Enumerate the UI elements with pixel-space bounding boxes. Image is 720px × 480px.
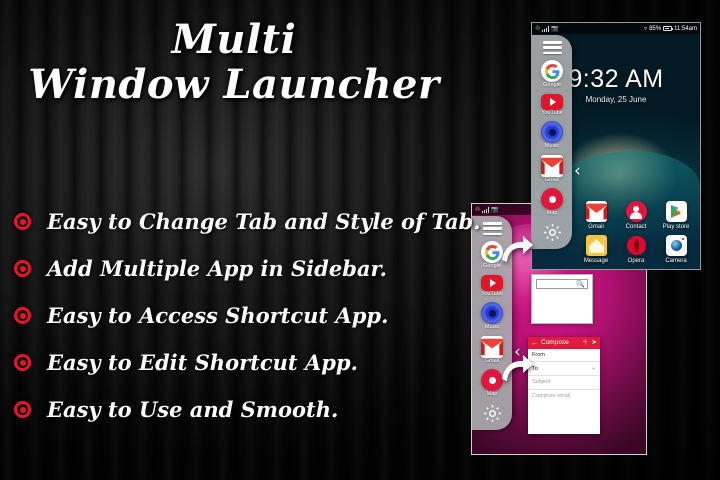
record-bullet-icon: [14, 260, 31, 277]
app-message[interactable]: Message: [576, 235, 616, 264]
youtube-icon: [481, 275, 503, 291]
sidebar-item-label: Map: [547, 211, 558, 217]
list-item: Easy to Edit Shortcut App.: [14, 339, 476, 386]
feature-list: Easy to Change Tab and Style of Tab. Add…: [14, 198, 476, 433]
sidebar-item-label: YouTube: [481, 292, 503, 298]
to-field[interactable]: To ⌄: [528, 362, 600, 376]
record-bullet-icon: [14, 401, 31, 418]
app-gmail[interactable]: Gmail: [576, 201, 616, 230]
google-icon: [541, 60, 563, 82]
app-contact[interactable]: Contact: [616, 201, 656, 230]
sidebar-collapse-icon[interactable]: ‹: [574, 163, 701, 180]
sidebar-item-label: Music: [485, 325, 499, 331]
title-line-1: Multi: [0, 18, 468, 63]
sidebar-item-label: Gmail: [545, 178, 559, 184]
phone-screenshot-top: ♲ 📷 ▿ 85% 11:54am 9:32 AM Monday, 25 Jun…: [531, 22, 701, 270]
magnifier-icon[interactable]: 🔍: [576, 281, 585, 288]
app-label: Contact: [626, 224, 647, 230]
app-sidebar[interactable]: Google YouTube Music Gmail Map: [532, 35, 572, 249]
sidebar-item-map[interactable]: Map: [541, 188, 563, 217]
sidebar-item-label: Music: [545, 144, 559, 150]
subject-field[interactable]: Subject: [528, 376, 600, 389]
battery-percent-label: 85%: [649, 26, 661, 32]
feature-label: Easy to Edit Shortcut App.: [47, 350, 358, 375]
list-item: Easy to Change Tab and Style of Tab.: [14, 198, 476, 245]
map-pin-icon: [541, 188, 563, 210]
hamburger-menu-icon[interactable]: [543, 41, 562, 54]
search-window[interactable]: 🔍: [531, 274, 593, 324]
app-label: Opera: [628, 258, 645, 264]
record-bullet-icon: [14, 213, 31, 230]
sidebar-item-label: YouTube: [541, 111, 563, 117]
list-item: Easy to Access Shortcut App.: [14, 292, 476, 339]
sidebar-item-label: Gmail: [485, 359, 499, 365]
arrow-to-compose-window: [500, 355, 534, 383]
sidebar-item-label: Map: [487, 392, 498, 398]
hamburger-menu-icon[interactable]: [483, 222, 502, 235]
app-camera[interactable]: Camera: [656, 235, 696, 264]
app-play-store[interactable]: Play store: [656, 201, 696, 230]
to-label: To: [532, 365, 591, 373]
app-label: Message: [584, 258, 608, 264]
home-app-grid: Gmail Contact Play store Message Opera: [576, 201, 696, 264]
app-label: Gmail: [588, 224, 604, 230]
sidebar-item-music[interactable]: Music: [541, 121, 563, 150]
play-store-icon: [666, 201, 687, 222]
opera-icon: [626, 235, 647, 256]
status-bar: ♲ 📷 ▿ 85% 11:54am: [532, 23, 700, 34]
page-title: Multi Window Launcher: [0, 18, 468, 108]
feature-label: Easy to Use and Smooth.: [47, 397, 338, 422]
music-icon: [541, 121, 563, 143]
title-line-2: Window Launcher: [0, 63, 468, 108]
battery-icon: [663, 26, 672, 31]
record-bullet-icon: [14, 354, 31, 371]
chevron-down-icon[interactable]: ⌄: [591, 364, 596, 373]
arrow-to-search-window: [500, 236, 534, 264]
sidebar-item-music[interactable]: Music: [481, 302, 503, 331]
gmail-icon: [541, 155, 563, 177]
app-label: Camera: [665, 258, 686, 264]
sim-icon: ♲: [535, 26, 540, 32]
list-item: Easy to Use and Smooth.: [14, 386, 476, 433]
camera-icon: [666, 235, 687, 256]
youtube-icon: [541, 94, 563, 110]
sidebar-item-youtube[interactable]: YouTube: [541, 94, 563, 117]
feature-label: Easy to Access Shortcut App.: [47, 303, 388, 328]
signal-bars-icon: [482, 207, 489, 213]
photo-icon: 📷: [491, 207, 498, 213]
sidebar-item-label: Google: [483, 264, 501, 270]
feature-label: Add Multiple App in Sidebar.: [47, 256, 387, 281]
app-label: Play store: [663, 224, 690, 230]
record-bullet-icon: [14, 307, 31, 324]
gear-icon[interactable]: [481, 403, 503, 425]
sidebar-item-gmail[interactable]: Gmail: [541, 155, 563, 184]
app-opera[interactable]: Opera: [616, 235, 656, 264]
wifi-icon: ▿: [644, 26, 647, 32]
message-icon: [586, 235, 607, 256]
compose-body-field[interactable]: Compose email: [528, 390, 600, 435]
clock-label: 11:54am: [674, 26, 697, 32]
feature-label: Easy to Change Tab and Style of Tab.: [47, 209, 481, 234]
signal-bars-icon: [542, 26, 549, 32]
contact-icon: [626, 201, 647, 222]
music-icon: [481, 302, 503, 324]
gmail-icon: [586, 201, 607, 222]
sidebar-item-google[interactable]: Google: [541, 60, 563, 89]
search-input-row[interactable]: 🔍: [536, 279, 588, 289]
list-item: Add Multiple App in Sidebar.: [14, 245, 476, 292]
gear-icon[interactable]: [541, 222, 563, 244]
sidebar-item-youtube[interactable]: YouTube: [481, 275, 503, 298]
sidebar-item-label: Google: [543, 83, 561, 89]
photo-icon: 📷: [551, 26, 558, 32]
